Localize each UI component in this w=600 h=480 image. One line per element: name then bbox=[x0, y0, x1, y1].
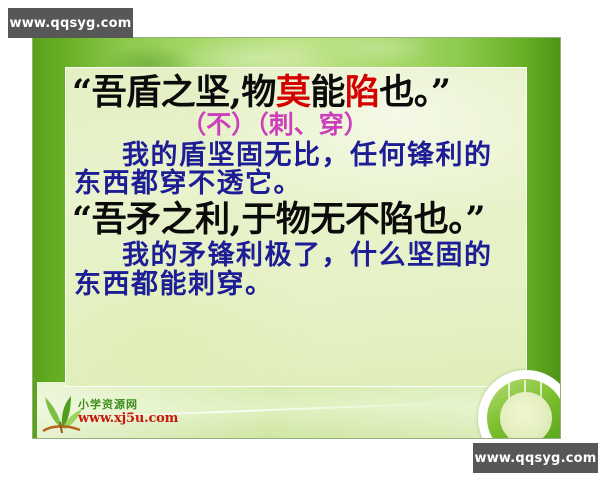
emblem-inner bbox=[500, 392, 552, 438]
page-canvas: “吾盾之坚,物莫能陷也。” （不）（刺、穿） 我的盾坚固无比，任何锋利的 东西都… bbox=[0, 0, 600, 480]
watermark-bottom-right: www.qqsyg.com bbox=[473, 443, 598, 473]
quote-1-segment-plain-b: 能 bbox=[310, 72, 345, 113]
site-logo-url[interactable]: www.xj5u.com bbox=[78, 411, 170, 426]
close-quote-mark-1: ” bbox=[431, 72, 451, 113]
site-logo-name: 小学资源网 bbox=[78, 398, 170, 411]
quote-1-segment-highlight-mo: 莫 bbox=[276, 72, 311, 113]
open-quote-mark-1: “ bbox=[72, 72, 92, 113]
quote-1-segment-highlight-xian: 陷 bbox=[345, 72, 380, 113]
translation-line-2b: 东西都能刺穿。 bbox=[74, 271, 518, 300]
quote-1-segment-plain-a: 吾盾之坚,物 bbox=[92, 72, 276, 113]
translation-line-2a: 我的矛锋利极了，什么坚固的 bbox=[74, 242, 518, 271]
translation-line-1b: 东西都穿不透它。 bbox=[74, 170, 518, 199]
quote-1-segment-plain-c: 也。 bbox=[379, 72, 431, 113]
site-logo-text: 小学资源网 www.xj5u.com bbox=[78, 398, 170, 426]
watermark-top-left: www.qqsyg.com bbox=[8, 8, 133, 38]
classical-quote-line-2: “吾矛之利,于物无不陷也。” bbox=[72, 201, 518, 238]
classical-quote-line-1: “吾盾之坚,物莫能陷也。” bbox=[72, 74, 518, 111]
slide-content-panel: “吾盾之坚,物莫能陷也。” （不）（刺、穿） 我的盾坚固无比，任何锋利的 东西都… bbox=[65, 67, 527, 387]
close-quote-mark-2: ” bbox=[465, 199, 485, 240]
quote-2-segment-plain: 吾矛之利,于物无不陷也。 bbox=[92, 199, 466, 240]
annotation-line-1: （不）（刺、穿） bbox=[74, 112, 518, 139]
translation-line-1a: 我的盾坚固无比，任何锋利的 bbox=[74, 142, 518, 171]
site-logo[interactable]: 小学资源网 www.xj5u.com bbox=[38, 390, 166, 436]
open-quote-mark-2: “ bbox=[72, 199, 92, 240]
slide-frame: “吾盾之坚,物莫能陷也。” （不）（刺、穿） 我的盾坚固无比，任何锋利的 东西都… bbox=[33, 38, 560, 438]
